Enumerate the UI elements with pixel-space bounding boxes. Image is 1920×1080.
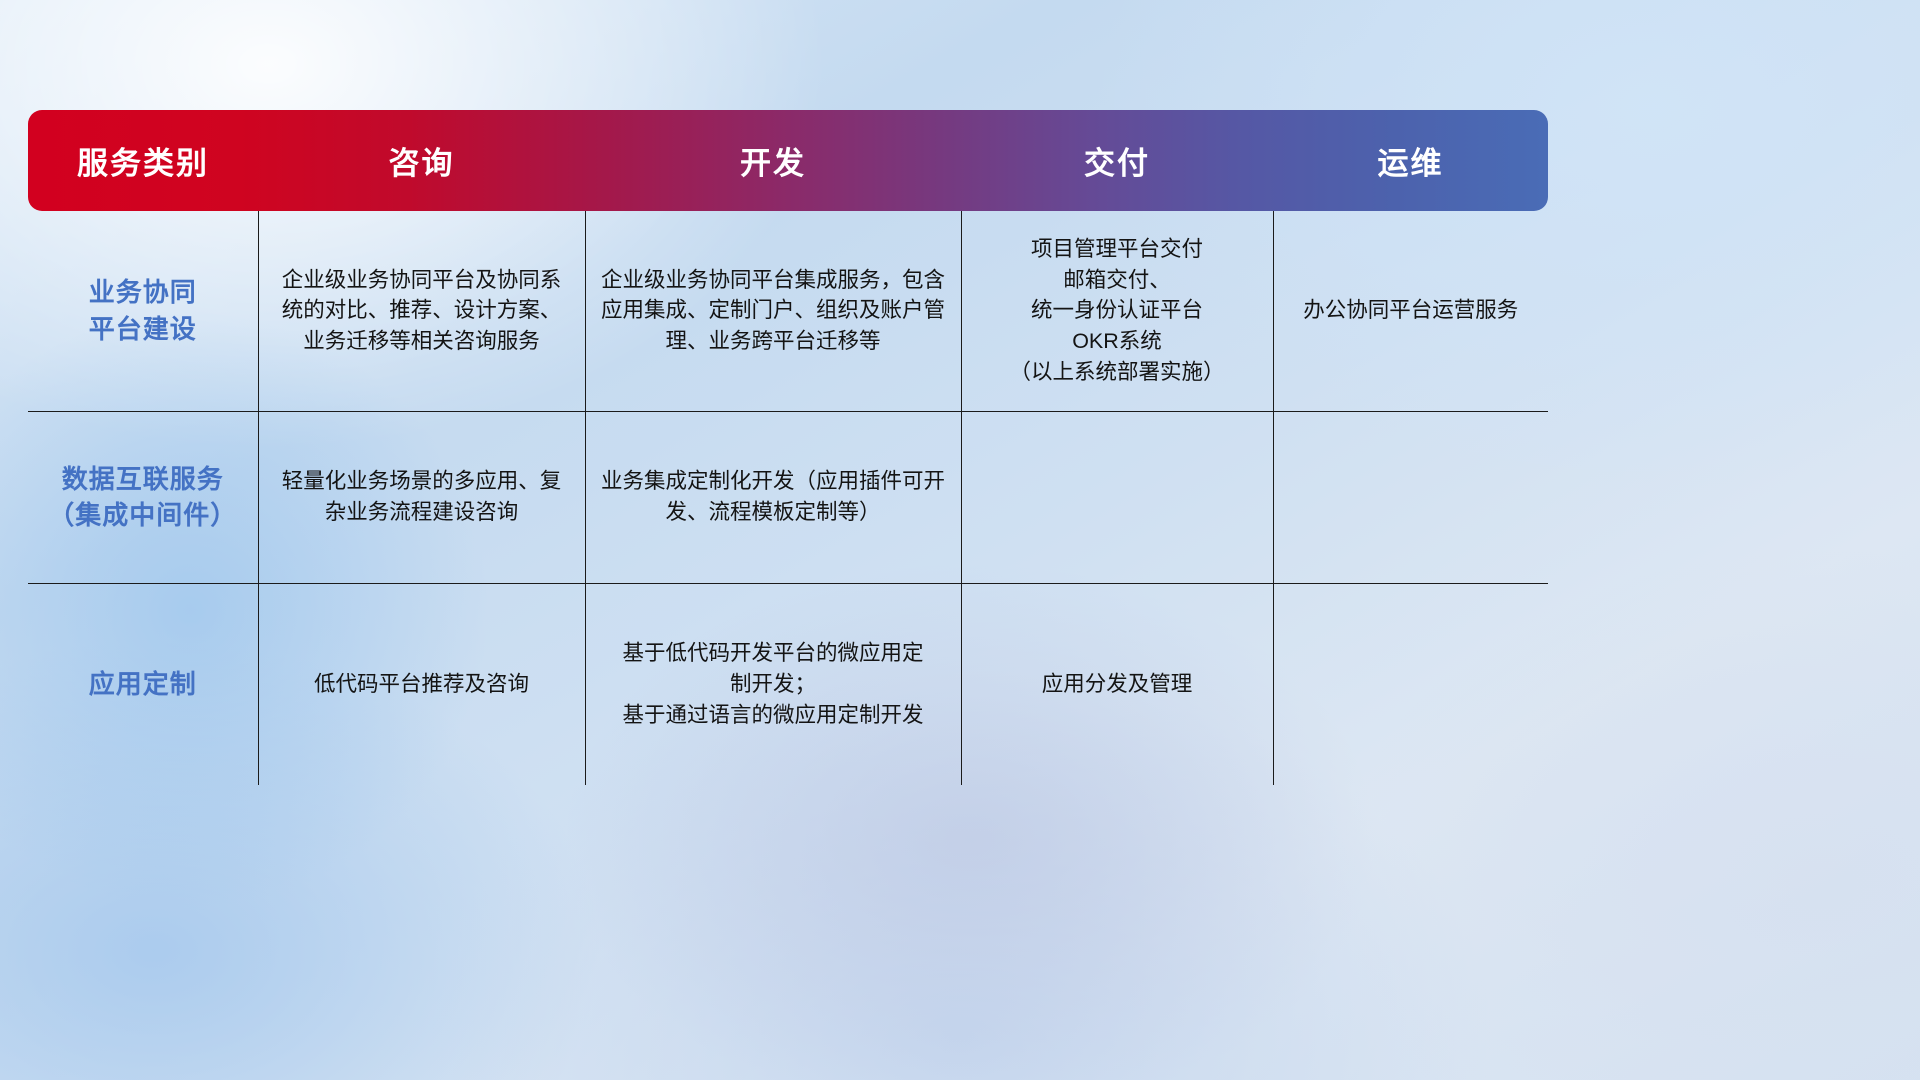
deliver-line: 项目管理平台交付 — [976, 234, 1259, 265]
cell-deliver-row2 — [961, 411, 1273, 583]
column-header-category-label: 服务类别 — [77, 146, 209, 181]
table-header-row: 服务类别 咨询 开发 交付 运维 — [28, 110, 1548, 211]
cell-deliver-row3: 应用分发及管理 — [961, 583, 1273, 785]
table-row: 业务协同 平台建设 企业级业务协同平台及协同系统的对比、推荐、设计方案、业务迁移… — [28, 211, 1548, 411]
cell-ops-row2 — [1273, 411, 1548, 583]
cell-category-row2: 数据互联服务 （集成中间件） — [28, 411, 258, 583]
category-line: （集成中间件） — [42, 497, 244, 533]
cell-category-row3: 应用定制 — [28, 583, 258, 785]
deliver-line: OKR系统 — [976, 326, 1259, 357]
table-body: 业务协同 平台建设 企业级业务协同平台及协同系统的对比、推荐、设计方案、业务迁移… — [28, 211, 1548, 785]
column-header-deliver: 交付 — [961, 110, 1273, 211]
category-line: 数据互联服务 — [42, 461, 244, 497]
deliver-line: （以上系统部署实施） — [976, 357, 1259, 388]
develop-line: 制开发； — [600, 669, 947, 700]
cell-develop-row3: 基于低代码开发平台的微应用定 制开发； 基于通过语言的微应用定制开发 — [585, 583, 961, 785]
column-header-ops-label: 运维 — [1378, 146, 1444, 181]
cell-ops-row3 — [1273, 583, 1548, 785]
cell-consult-row2: 轻量化业务场景的多应用、复杂业务流程建设咨询 — [258, 411, 585, 583]
cell-category-row1: 业务协同 平台建设 — [28, 211, 258, 411]
table-row: 数据互联服务 （集成中间件） 轻量化业务场景的多应用、复杂业务流程建设咨询 业务… — [28, 411, 1548, 583]
service-matrix-table-container: 服务类别 咨询 开发 交付 运维 业务协同 平台建 — [28, 110, 1548, 785]
cell-consult-row3: 低代码平台推荐及咨询 — [258, 583, 585, 785]
column-header-ops: 运维 — [1273, 110, 1548, 211]
category-line: 应用定制 — [42, 666, 244, 702]
column-header-develop: 开发 — [585, 110, 961, 211]
cell-develop-row2: 业务集成定制化开发（应用插件可开发、流程模板定制等） — [585, 411, 961, 583]
table-header: 服务类别 咨询 开发 交付 运维 — [28, 110, 1548, 211]
category-line: 业务协同 — [42, 274, 244, 310]
develop-line: 基于通过语言的微应用定制开发 — [600, 700, 947, 731]
develop-line: 基于低代码开发平台的微应用定 — [600, 638, 947, 669]
table-row: 应用定制 低代码平台推荐及咨询 基于低代码开发平台的微应用定 制开发； 基于通过… — [28, 583, 1548, 785]
cell-develop-row1: 企业级业务协同平台集成服务，包含应用集成、定制门户、组织及账户管理、业务跨平台迁… — [585, 211, 961, 411]
cell-deliver-row1: 项目管理平台交付 邮箱交付、 统一身份认证平台 OKR系统 （以上系统部署实施） — [961, 211, 1273, 411]
column-header-deliver-label: 交付 — [1084, 146, 1150, 181]
cell-ops-row1: 办公协同平台运营服务 — [1273, 211, 1548, 411]
service-matrix-table: 服务类别 咨询 开发 交付 运维 业务协同 平台建 — [28, 110, 1548, 785]
cell-consult-row1: 企业级业务协同平台及协同系统的对比、推荐、设计方案、业务迁移等相关咨询服务 — [258, 211, 585, 411]
deliver-line: 统一身份认证平台 — [976, 295, 1259, 326]
category-line: 平台建设 — [42, 311, 244, 347]
column-header-category: 服务类别 — [28, 110, 258, 211]
column-header-consult: 咨询 — [258, 110, 585, 211]
deliver-line: 邮箱交付、 — [976, 265, 1259, 296]
column-header-consult-label: 咨询 — [389, 146, 455, 181]
column-header-develop-label: 开发 — [740, 146, 806, 181]
